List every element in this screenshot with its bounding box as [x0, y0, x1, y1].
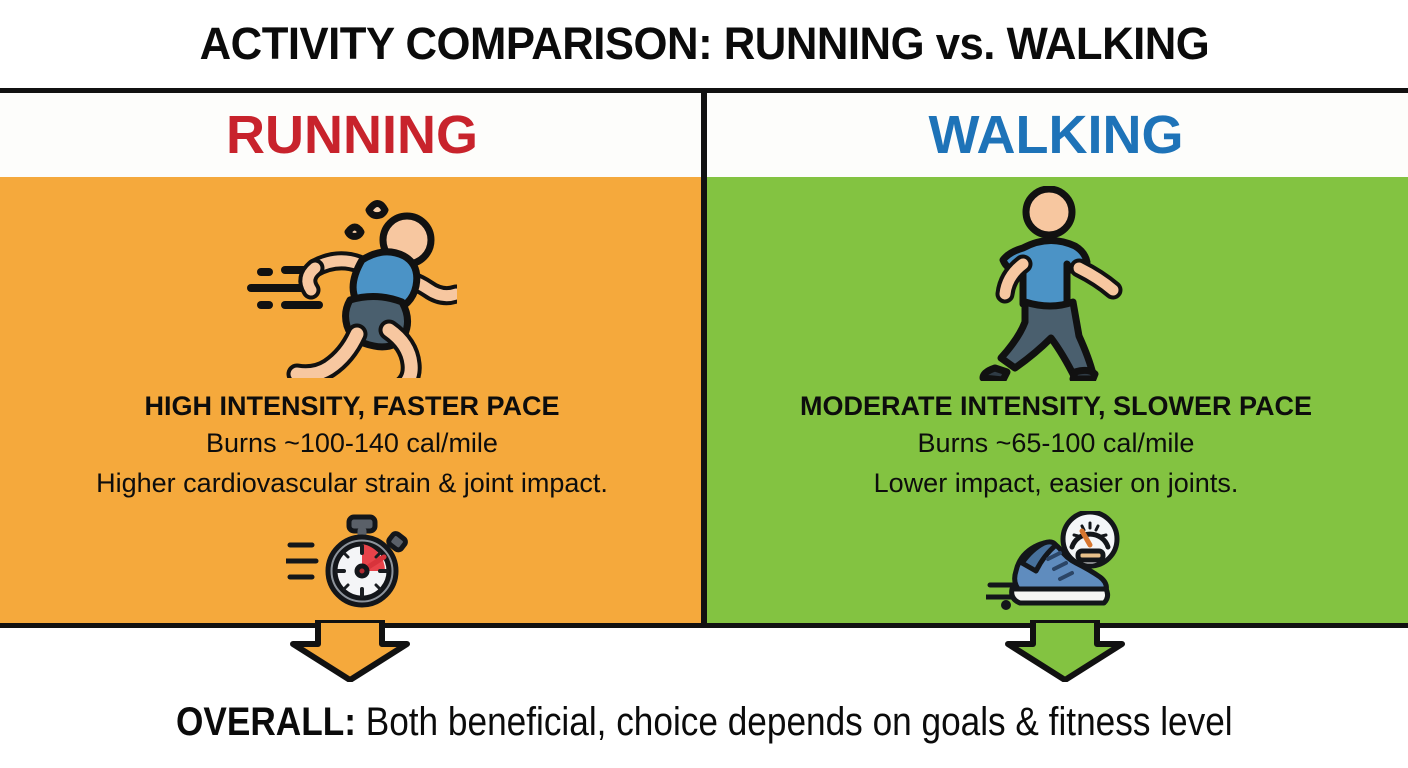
walking-calories: Burns ~65-100 cal/mile: [704, 423, 1408, 463]
running-shoe-speedometer-icon: [986, 511, 1126, 611]
walking-headline: MODERATE INTENSITY, SLOWER PACE: [704, 389, 1408, 423]
running-note: Higher cardiovascular strain & joint imp…: [0, 463, 704, 503]
stopwatch-icon: [286, 513, 418, 609]
column-walking-header: WALKING: [704, 93, 1408, 177]
column-walking-body: MODERATE INTENSITY, SLOWER PACE Burns ~6…: [704, 177, 1408, 623]
column-running-header: RUNNING: [0, 93, 704, 177]
running-badge-slot: [0, 503, 704, 623]
walking-text-block: MODERATE INTENSITY, SLOWER PACE Burns ~6…: [704, 389, 1408, 503]
column-walking: WALKING: [704, 93, 1408, 623]
title-bar: ACTIVITY COMPARISON: RUNNING vs. WALKING: [0, 0, 1408, 88]
column-divider: [701, 88, 707, 628]
running-person-icon: [247, 188, 457, 378]
running-headline: HIGH INTENSITY, FASTER PACE: [0, 389, 704, 423]
overall-statement: OVERALL: Both beneficial, choice depends…: [176, 700, 1233, 745]
infographic-root: ACTIVITY COMPARISON: RUNNING vs. WALKING…: [0, 0, 1408, 768]
column-running: RUNNING: [0, 93, 704, 623]
walking-figure-slot: [704, 177, 1408, 389]
running-figure-slot: [0, 177, 704, 389]
overall-text: Both beneficial, choice depends on goals…: [356, 700, 1233, 744]
walking-badge-slot: [704, 503, 1408, 623]
walking-note: Lower impact, easier on joints.: [704, 463, 1408, 503]
column-running-title: RUNNING: [226, 104, 478, 166]
walking-person-icon: [971, 186, 1141, 381]
walking-down-arrow-icon: [1002, 620, 1128, 682]
page-title: ACTIVITY COMPARISON: RUNNING vs. WALKING: [199, 18, 1209, 70]
running-calories: Burns ~100-140 cal/mile: [0, 423, 704, 463]
overall-label: OVERALL:: [176, 700, 356, 744]
running-text-block: HIGH INTENSITY, FASTER PACE Burns ~100-1…: [0, 389, 704, 503]
footer-bar: OVERALL: Both beneficial, choice depends…: [0, 686, 1408, 758]
column-walking-title: WALKING: [929, 104, 1184, 166]
running-down-arrow-icon: [287, 620, 413, 682]
column-running-body: HIGH INTENSITY, FASTER PACE Burns ~100-1…: [0, 177, 704, 623]
